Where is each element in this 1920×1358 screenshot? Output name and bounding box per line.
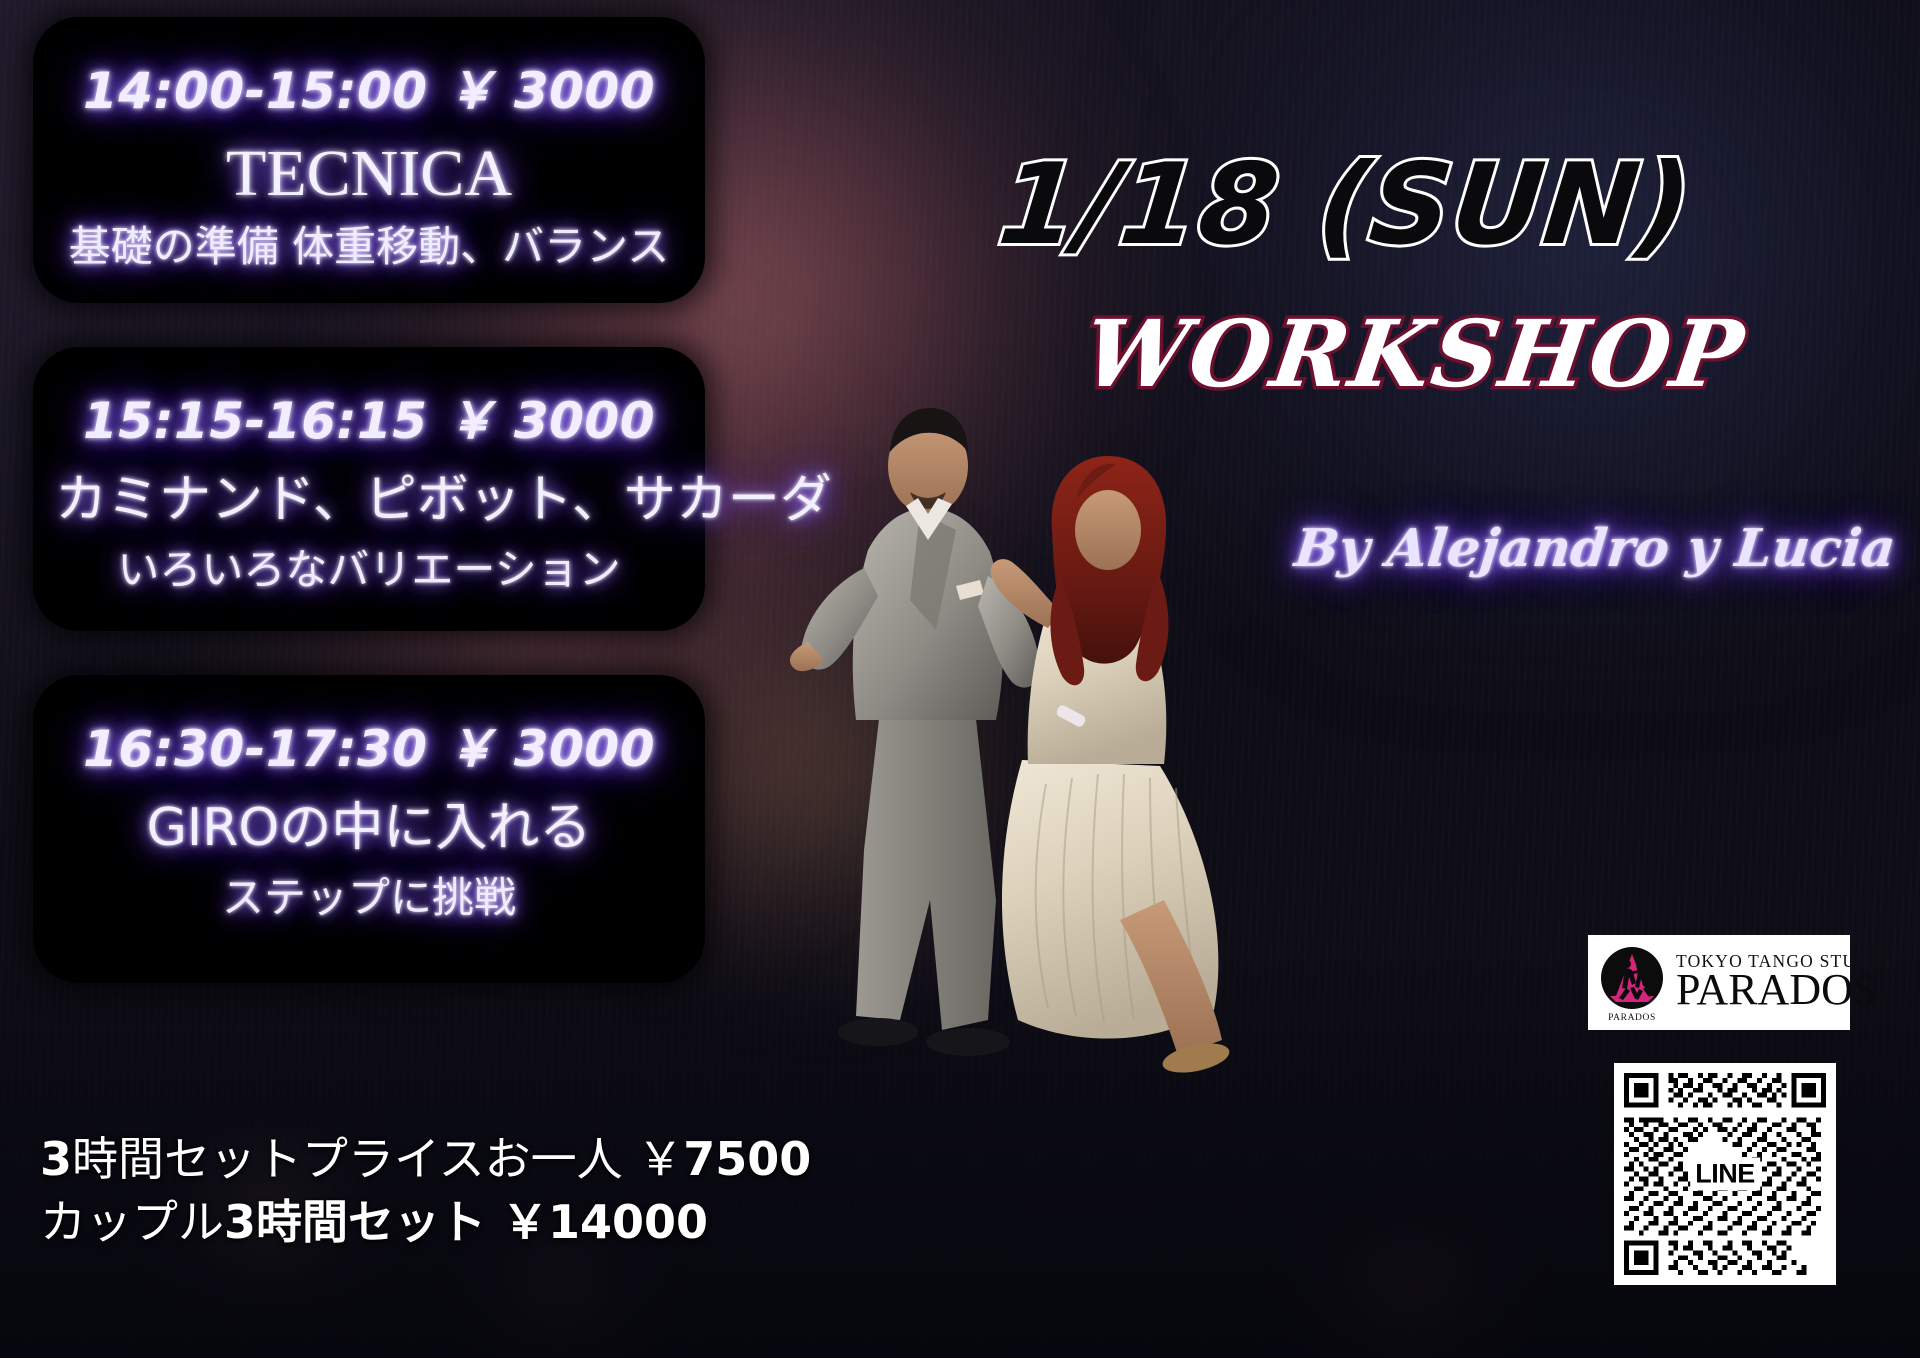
- session-panel: 14:00-15:00 ￥ 3000 TECNICA 基礎の準備 体重移動、バラ…: [33, 17, 705, 303]
- dancers-photo: [760, 380, 1400, 1080]
- session-subtitle: 基礎の準備 体重移動、バランス: [55, 222, 683, 272]
- studio-logo: PARADOS TOKYO TANGO STUDIO PARADOS: [1588, 935, 1850, 1030]
- session-panels: 14:00-15:00 ￥ 3000 TECNICA 基礎の準備 体重移動、バラ…: [33, 17, 705, 1027]
- session-time: 15:15-16:15 ￥ 3000: [55, 381, 683, 453]
- price-body: 3時間セット ￥: [224, 1195, 548, 1249]
- session-panel: 15:15-16:15 ￥ 3000 カミナンド、ピボット、サカーダ いろいろな…: [33, 347, 705, 631]
- qr-code-icon[interactable]: LINE: [1624, 1073, 1826, 1275]
- session-time: 14:00-15:00 ￥ 3000: [55, 51, 683, 123]
- studio-logo-text: TOKYO TANGO STUDIO PARADOS: [1676, 953, 1891, 1013]
- event-instructors: By Alejandro y Lucia: [1292, 518, 1899, 579]
- studio-name: PARADOS: [1676, 968, 1891, 1012]
- emblem-label: PARADOS: [1596, 1013, 1668, 1023]
- price-block: 3時間セットプライスお一人 ￥7500 カップル3時間セット ￥14000: [40, 1128, 700, 1255]
- session-subtitle: いろいろなバリエーション: [55, 545, 683, 595]
- session-title: カミナンド、ピボット、サカーダ: [55, 471, 683, 531]
- session-panel: 16:30-17:30 ￥ 3000 GIROの中に入れる ステップに挑戦: [33, 675, 705, 983]
- session-time: 16:30-17:30 ￥ 3000: [55, 709, 683, 781]
- price-line-single: 3時間セットプライスお一人 ￥7500: [40, 1128, 700, 1191]
- session-title: TECNICA: [55, 139, 683, 208]
- session-subtitle: ステップに挑戦: [55, 873, 683, 923]
- event-title: WORKSHOP: [1077, 300, 1751, 408]
- line-qr-card[interactable]: LINE: [1614, 1063, 1836, 1285]
- session-title: GIROの中に入れる: [55, 799, 683, 859]
- price-prefix: カップル: [40, 1195, 224, 1249]
- poster-root: 14:00-15:00 ￥ 3000 TECNICA 基礎の準備 体重移動、バラ…: [0, 0, 1920, 1358]
- price-amount: 7500: [683, 1132, 811, 1186]
- price-prefix: 3: [40, 1132, 72, 1186]
- tango-dancers-icon: PARADOS: [1596, 944, 1668, 1022]
- price-line-couple: カップル3時間セット ￥14000: [40, 1191, 700, 1254]
- event-date: 1/18 (SUN): [993, 140, 1698, 270]
- line-label: LINE: [1690, 1158, 1760, 1191]
- price-body: 時間セットプライスお一人 ￥: [72, 1132, 683, 1186]
- price-amount: 14000: [548, 1195, 708, 1249]
